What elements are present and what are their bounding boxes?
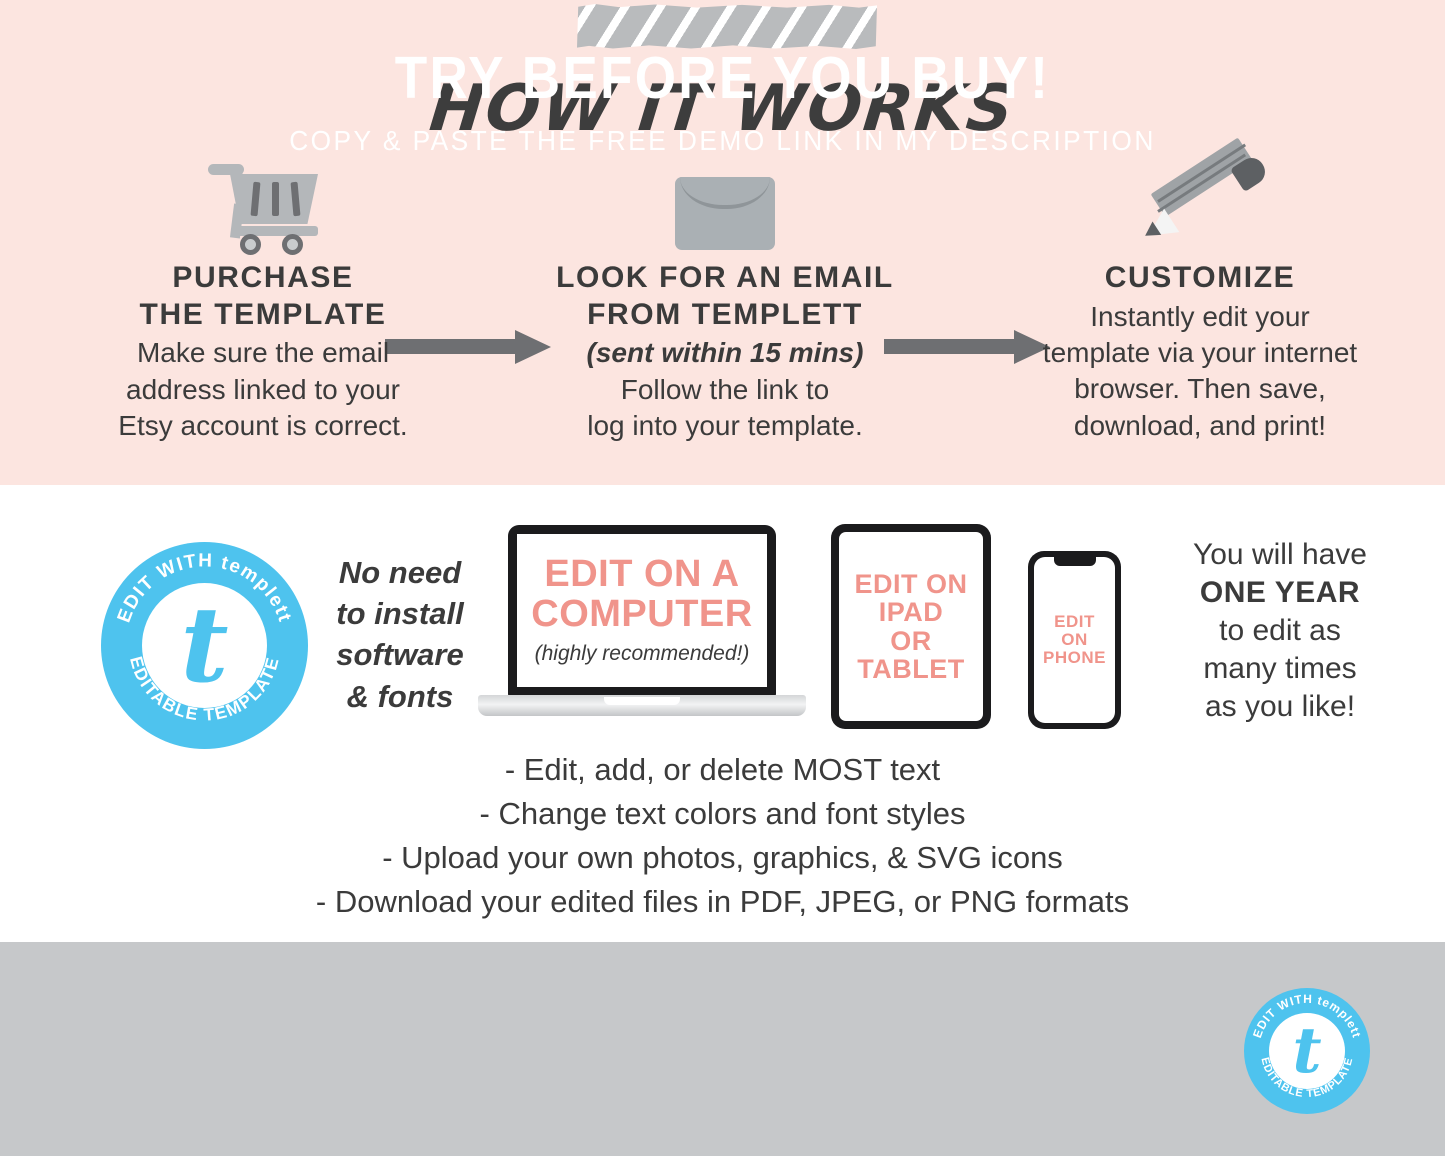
shopping-cart-icon <box>204 148 322 250</box>
step-heading-line: THE TEMPLATE <box>68 297 458 334</box>
phone-device: EDIT ON PHONE <box>1028 551 1121 729</box>
one-year-line: as you like! <box>1124 688 1436 726</box>
banner-subtitle: COPY & PASTE THE FREE DEMO LINK IN MY DE… <box>43 125 1401 157</box>
templett-badge-icon: EDIT WITH templett EDITABLE TEMPLATE t <box>101 542 308 749</box>
no-install-line: & fonts <box>325 676 475 717</box>
tablet-device: EDIT ON IPAD OR TABLET <box>831 524 991 729</box>
one-year-line: You will have <box>1124 536 1436 574</box>
step-body-line: download, and print! <box>990 408 1410 444</box>
step-body-line: template via your internet <box>990 335 1410 371</box>
phone-text-line: PHONE <box>1043 649 1106 667</box>
laptop-lid: EDIT ON A COMPUTER (highly recommended!) <box>508 525 776 697</box>
tablet-text-line: IPAD <box>854 598 967 626</box>
step-heading-line: FROM TEMPLETT <box>510 297 940 334</box>
svg-text:EDITABLE TEMPLATE: EDITABLE TEMPLATE <box>1259 1056 1356 1100</box>
step-heading: CUSTOMIZE <box>990 260 1410 297</box>
cart-slot <box>272 182 279 216</box>
no-install-line: software <box>325 634 475 675</box>
laptop-trackpad-notch <box>604 697 680 705</box>
one-year-bold: ONE YEAR <box>1200 576 1360 609</box>
step-heading: LOOK FOR AN EMAIL FROM TEMPLETT <box>510 260 940 333</box>
envelope-icon <box>675 177 775 250</box>
try-before-you-buy-banner <box>0 942 1445 1156</box>
no-install-line: to install <box>325 593 475 634</box>
one-year-line: many times <box>1124 650 1436 688</box>
feature-list: - Edit, add, or delete MOST text - Chang… <box>0 748 1445 924</box>
step-body: (sent within 15 mins) Follow the link to… <box>510 335 940 444</box>
step-body-line: Make sure the email <box>68 335 458 371</box>
step-body-line: log into your template. <box>510 408 940 444</box>
list-item: - Download your edited files in PDF, JPE… <box>0 880 1445 924</box>
tablet-text-line: TABLET <box>854 655 967 683</box>
step-heading-line: CUSTOMIZE <box>990 260 1410 297</box>
step-body: Make sure the email address linked to yo… <box>68 335 458 444</box>
laptop-device: EDIT ON A COMPUTER (highly recommended!) <box>478 525 806 730</box>
step-body-line: Etsy account is correct. <box>68 408 458 444</box>
phone-text-line: ON <box>1043 631 1106 649</box>
banner-title: TRY BEFORE YOU BUY! <box>72 44 1373 112</box>
no-install-line: No need <box>325 552 475 593</box>
tablet-text-line: OR <box>854 627 967 655</box>
step-body-line: browser. Then save, <box>990 371 1410 407</box>
one-year-line: to edit as <box>1124 612 1436 650</box>
steps-row: PURCHASE THE TEMPLATE Make sure the emai… <box>0 140 1445 470</box>
pencil-icon <box>1140 154 1260 250</box>
step-heading-line: PURCHASE <box>68 260 458 297</box>
phone-screen: EDIT ON PHONE <box>1034 557 1115 723</box>
cart-wheel <box>282 234 303 255</box>
svg-text:EDIT WITH templett: EDIT WITH templett <box>114 550 296 625</box>
step-heading-line: LOOK FOR AN EMAIL <box>510 260 940 297</box>
step-customize: CUSTOMIZE Instantly edit your template v… <box>990 140 1410 444</box>
cart-wheel <box>240 234 261 255</box>
list-item: - Upload your own photos, graphics, & SV… <box>0 836 1445 880</box>
laptop-recommend-note: (highly recommended!) <box>535 642 750 666</box>
laptop-screen: EDIT ON A COMPUTER (highly recommended!) <box>517 534 767 687</box>
step-purchase: PURCHASE THE TEMPLATE Make sure the emai… <box>68 140 458 444</box>
washi-tape-icon <box>577 4 877 49</box>
tablet-text-line: EDIT ON <box>854 570 967 598</box>
list-item: - Edit, add, or delete MOST text <box>0 748 1445 792</box>
badge-arc-text: EDIT WITH templett EDITABLE TEMPLATE <box>1244 988 1370 1114</box>
phone-notch <box>1054 557 1096 566</box>
step-heading: PURCHASE THE TEMPLATE <box>68 260 458 333</box>
no-install-text: No need to install software & fonts <box>325 552 475 717</box>
laptop-text-line: COMPUTER <box>531 595 752 635</box>
step-look-for-email: LOOK FOR AN EMAIL FROM TEMPLETT (sent wi… <box>510 140 940 444</box>
laptop-text-line: EDIT ON A <box>531 555 752 595</box>
svg-text:EDITABLE TEMPLATE: EDITABLE TEMPLATE <box>126 654 283 724</box>
svg-text:EDIT WITH templett: EDIT WITH templett <box>1250 992 1364 1040</box>
phone-text-line: EDIT <box>1043 613 1106 631</box>
phone-screen-text: EDIT ON PHONE <box>1043 613 1106 667</box>
step-body-line: Instantly edit your <box>990 299 1410 335</box>
badge-arc-text: EDIT WITH templett EDITABLE TEMPLATE <box>101 542 308 749</box>
step-body: Instantly edit your template via your in… <box>990 299 1410 445</box>
tablet-screen: EDIT ON IPAD OR TABLET <box>839 532 983 721</box>
step-body-line: Follow the link to <box>510 372 940 408</box>
envelope-flap <box>675 177 775 222</box>
step-body-line: address linked to your <box>68 372 458 408</box>
list-item: - Change text colors and font styles <box>0 792 1445 836</box>
templett-badge-icon-footer: EDIT WITH templett EDITABLE TEMPLATE t <box>1244 988 1370 1114</box>
step-body-note: (sent within 15 mins) <box>510 335 940 371</box>
laptop-screen-text: EDIT ON A COMPUTER <box>531 555 752 635</box>
one-year-text: You will have ONE YEAR to edit as many t… <box>1124 536 1436 726</box>
tablet-screen-text: EDIT ON IPAD OR TABLET <box>854 570 967 683</box>
